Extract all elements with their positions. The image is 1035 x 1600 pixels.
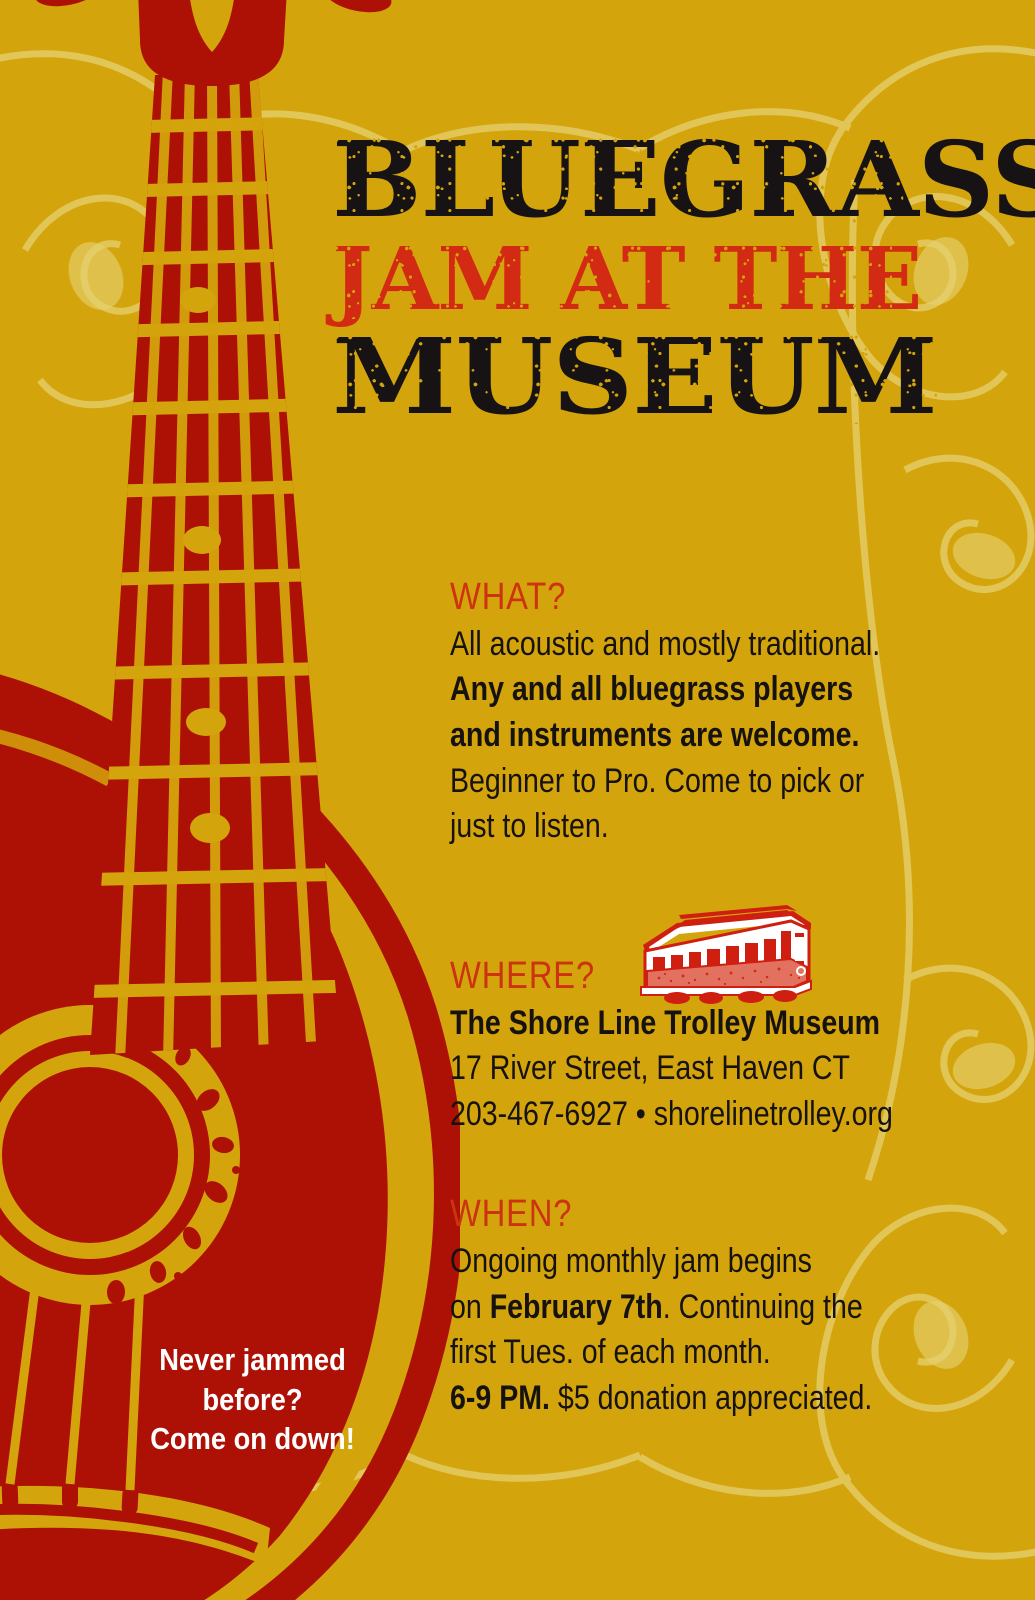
poster: BLUEGRASS JAM AT THE MUSEUM WHAT? All ac…: [0, 0, 1035, 1600]
poster-headline: BLUEGRASS JAM AT THE MUSEUM: [332, 132, 892, 424]
where-heading: WHERE?: [450, 957, 859, 997]
what-line-1: All acoustic and mostly traditional.: [450, 625, 880, 663]
venue-name: The Shore Line Trolley Museum: [450, 1004, 880, 1042]
section-what: WHAT? All acoustic and mostly traditiona…: [450, 578, 925, 850]
what-line-4: Beginner to Pro. Come to pick or: [450, 762, 864, 800]
when-line-2-suffix: . Continuing the: [663, 1288, 863, 1326]
when-time: 6-9 PM.: [450, 1379, 550, 1417]
venue-contact: 203-467-6927 • shorelinetrolley.org: [450, 1095, 893, 1133]
callout-line-2: before?: [202, 1382, 302, 1417]
when-line-1: Ongoing monthly jam begins: [450, 1242, 812, 1280]
where-body: The Shore Line Trolley Museum 17 River S…: [450, 1001, 925, 1138]
venue-address: 17 River Street, East Haven CT: [450, 1049, 850, 1087]
section-where: WHERE? The Shore Line Trolley Museum 17 …: [450, 957, 925, 1138]
when-line-3: first Tues. of each month.: [450, 1333, 771, 1371]
when-donation: $5 donation appreciated.: [550, 1379, 872, 1417]
what-line-5: just to listen.: [450, 807, 609, 845]
when-body: Ongoing monthly jam begins on February 7…: [450, 1239, 925, 1421]
section-when: WHEN? Ongoing monthly jam begins on Febr…: [450, 1195, 925, 1421]
what-heading: WHAT?: [450, 578, 859, 618]
when-heading: WHEN?: [450, 1195, 859, 1235]
title-line-museum: MUSEUM: [332, 329, 937, 425]
when-line-2-prefix: on: [450, 1288, 490, 1326]
callout-never-jammed: Never jammed before? Come on down!: [132, 1340, 374, 1459]
callout-line-1: Never jammed: [159, 1342, 346, 1377]
callout-line-3: Come on down!: [150, 1421, 355, 1456]
details-column: WHAT? All acoustic and mostly traditiona…: [450, 578, 925, 1421]
title-line-jam-at-the: JAM AT THE: [332, 240, 892, 319]
what-line-3: and instruments are welcome.: [450, 716, 860, 754]
what-body: All acoustic and mostly traditional. Any…: [450, 622, 925, 850]
what-line-2: Any and all bluegrass players: [450, 670, 853, 708]
title-line-bluegrass: BLUEGRASS: [332, 132, 903, 228]
when-date: February 7th: [490, 1288, 663, 1326]
